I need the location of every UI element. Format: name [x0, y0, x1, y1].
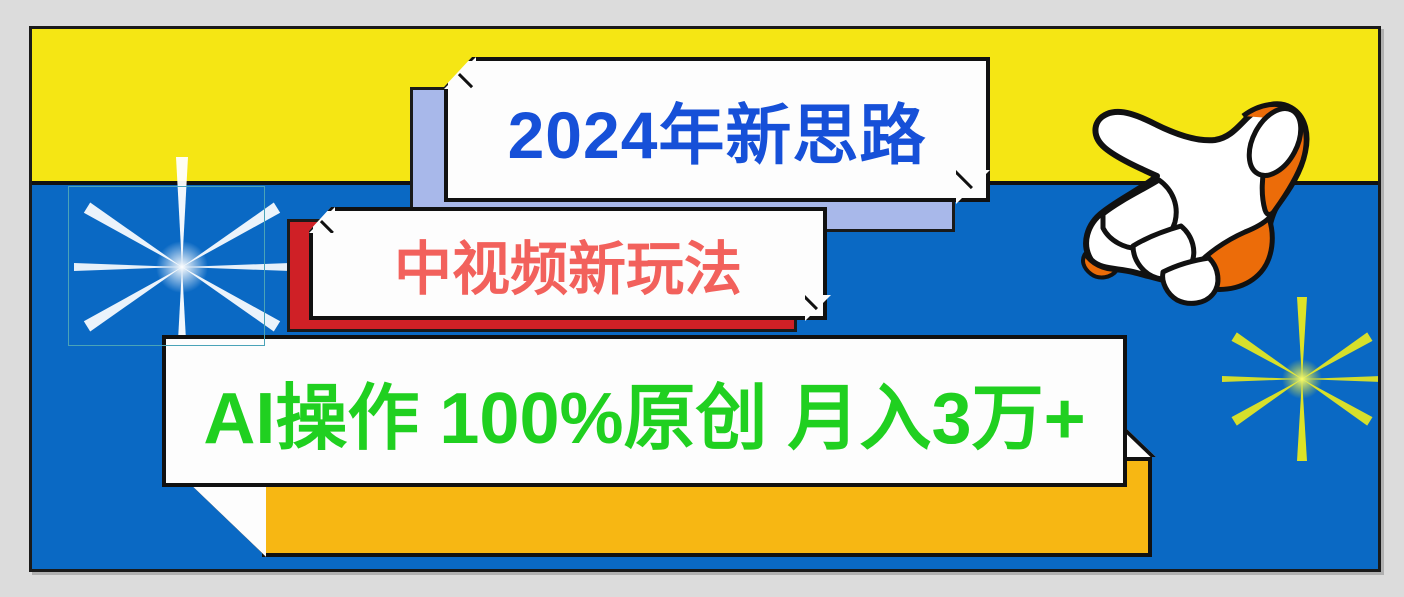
poster-canvas[interactable]: 2024年新思路 中视频新玩法 AI操作 100%原创 月入3万+	[29, 26, 1381, 572]
app-frame: 2024年新思路 中视频新玩法 AI操作 100%原创 月入3万+	[0, 0, 1404, 597]
banner-1-text: 2024年新思路	[444, 57, 990, 202]
banner-2-text: 中视频新玩法	[309, 207, 827, 320]
banner-headline-1[interactable]: 2024年新思路	[410, 57, 990, 232]
banner-headline-2[interactable]: 中视频新玩法	[287, 207, 827, 332]
pointing-hand-icon	[1047, 64, 1327, 314]
selection-marquee[interactable]	[68, 186, 265, 346]
banner-3-text: AI操作 100%原创 月入3万+	[162, 335, 1127, 487]
banner-headline-3[interactable]: AI操作 100%原创 月入3万+	[162, 327, 1162, 562]
